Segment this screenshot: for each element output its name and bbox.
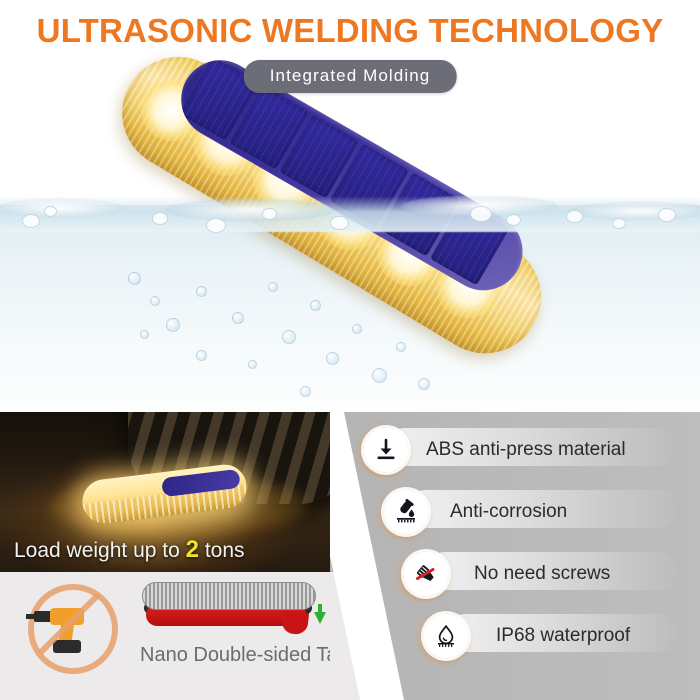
air-bubble [352,324,362,334]
air-bubble [326,352,339,365]
pointer-arrow-icon [314,612,326,624]
load-weight-caption: Load weight up to 2 tons [14,536,245,564]
water-drop-icon [424,614,468,658]
air-bubble [282,330,296,344]
foam-bubble [506,214,521,226]
air-bubble [140,330,149,339]
air-bubble [150,296,160,306]
foam-bubble [612,218,626,229]
air-bubble [166,318,180,332]
air-bubble [372,368,387,383]
load-caption-before: Load weight up to [14,539,186,562]
foam-bubble [262,208,277,220]
press-down-icon [364,428,408,472]
foam-bubble [330,216,349,230]
feature-list-panel: ABS anti-press material [330,412,700,700]
load-weight-photo: Load weight up to 2 tons [0,412,352,572]
double-sided-tape-icon [142,582,320,640]
badge-integrated-molding: Integrated Molding [244,60,457,93]
feature-label: ABS anti-press material [426,428,626,472]
air-bubble [128,272,141,285]
foam-bubble [44,206,57,217]
page-title: ULTRASONIC WELDING TECHNOLOGY [0,12,700,50]
no-drill-icon [28,584,114,670]
tape-label: Nano Double-sided Tape [140,644,352,667]
feature-row-ip68-waterproof[interactable]: IP68 waterproof [424,614,684,658]
no-screws-icon [404,552,448,596]
feature-row-abs-anti-press[interactable]: ABS anti-press material [364,428,684,472]
air-bubble [196,286,207,297]
hero-section: ULTRASONIC WELDING TECHNOLOGY Integrated… [0,0,700,412]
foam-bubble [22,214,40,228]
anti-corrosion-icon [384,490,428,534]
air-bubble [310,300,321,311]
water-surface [0,196,700,232]
foam-bubble [470,206,492,222]
feature-row-anti-corrosion[interactable]: Anti-corrosion [384,490,684,534]
foam-bubble [566,210,583,223]
load-caption-after: tons [199,539,245,562]
air-bubble [232,312,244,324]
foam-bubble [152,212,168,225]
air-bubble [248,360,257,369]
load-caption-value: 2 [186,536,199,563]
foam-bubble [206,218,226,233]
stud-underside [142,582,316,610]
air-bubble [268,282,278,292]
drill-battery [53,640,81,653]
feature-label: No need screws [474,552,610,596]
feature-row-no-screws[interactable]: No need screws [404,552,684,596]
air-bubble [396,342,406,352]
feature-label: IP68 waterproof [496,614,630,658]
feature-label: Anti-corrosion [450,490,567,534]
foam-bubble [658,208,676,222]
mounting-method-panel: Nano Double-sided Tape [0,572,352,700]
tape-tail [281,611,309,636]
air-bubble [300,386,311,397]
air-bubble [418,378,430,390]
air-bubble [196,350,207,361]
product-infographic: ULTRASONIC WELDING TECHNOLOGY Integrated… [0,0,700,700]
